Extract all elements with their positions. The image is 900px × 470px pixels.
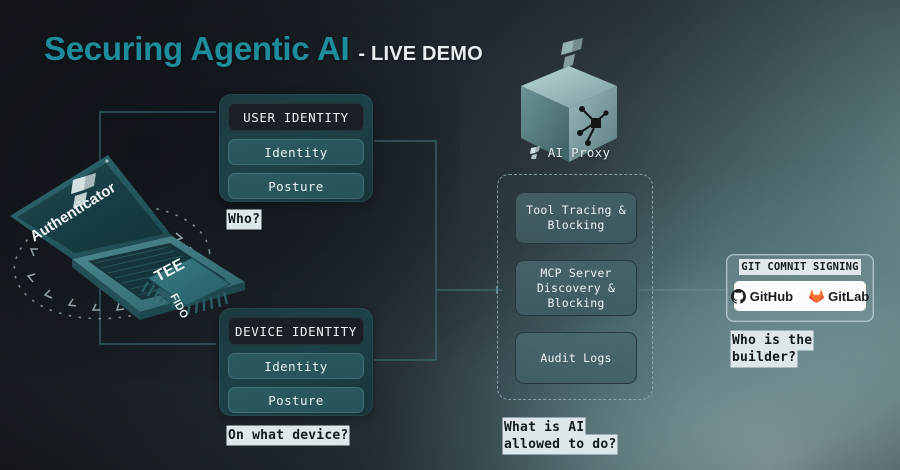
- github-brand[interactable]: GitHub: [731, 289, 793, 304]
- card-user-identity-header: USER IDENTITY: [228, 103, 364, 131]
- question-who-line-1: Who?: [228, 211, 260, 228]
- card-user-identity-row-identity[interactable]: Identity: [228, 139, 364, 165]
- question-what-is-ai-allowed-to-do-line-1: What is AI: [504, 419, 584, 436]
- card-device-identity[interactable]: DEVICE IDENTITY Identity Posture: [219, 308, 373, 416]
- git-provider-pill: GitHub GitLab: [734, 281, 866, 311]
- git-commit-signing-title-text: GIT COMNIT SIGNING: [741, 261, 858, 273]
- question-who-is-the-builder: Who is the builder?: [732, 332, 812, 366]
- card-device-identity-row-posture[interactable]: Posture: [228, 387, 364, 413]
- brand-chevron-icon: [561, 38, 583, 68]
- card-user-identity-row-posture[interactable]: Posture: [228, 173, 364, 199]
- authenticator-scene: Authenticator TEE FIDO: [0, 130, 250, 340]
- ai-proxy-label: AI Proxy: [505, 145, 635, 160]
- proxy-item-mcp-server-discovery[interactable]: MCP Server Discovery & Blocking: [515, 260, 637, 316]
- github-icon: [731, 289, 746, 304]
- question-on-what-device-line-1: On what device?: [228, 427, 348, 444]
- question-who-is-the-builder-line-1: Who is the: [732, 332, 812, 349]
- ai-proxy-capabilities-group: Tool Tracing & Blocking MCP Server Disco…: [497, 174, 653, 400]
- card-device-identity-header: DEVICE IDENTITY: [228, 317, 364, 345]
- github-label: GitHub: [750, 289, 793, 304]
- slide-canvas: Securing Agentic AI - LIVE DEMO: [0, 0, 900, 470]
- card-git-commit-signing[interactable]: GIT COMNIT SIGNING GitHub Git: [726, 254, 874, 322]
- gitlab-brand[interactable]: GitLab: [809, 289, 869, 304]
- gitlab-icon: [809, 289, 824, 304]
- question-what-is-ai-allowed-to-do: What is AI allowed to do?: [504, 419, 616, 453]
- ai-proxy-label-text: AI Proxy: [548, 145, 611, 160]
- question-who-is-the-builder-line-2: builder?: [732, 349, 796, 366]
- brand-chevron-icon: [530, 146, 543, 159]
- question-who: Who?: [228, 211, 260, 228]
- card-device-identity-row-identity[interactable]: Identity: [228, 353, 364, 379]
- proxy-item-tool-tracing[interactable]: Tool Tracing & Blocking: [515, 192, 637, 244]
- proxy-item-audit-logs[interactable]: Audit Logs: [515, 332, 637, 384]
- question-on-what-device: On what device?: [228, 427, 348, 444]
- gitlab-label: GitLab: [828, 289, 869, 304]
- card-user-identity[interactable]: USER IDENTITY Identity Posture: [219, 94, 373, 202]
- question-what-is-ai-allowed-to-do-line-2: allowed to do?: [504, 436, 616, 453]
- git-commit-signing-title: GIT COMNIT SIGNING: [734, 261, 866, 273]
